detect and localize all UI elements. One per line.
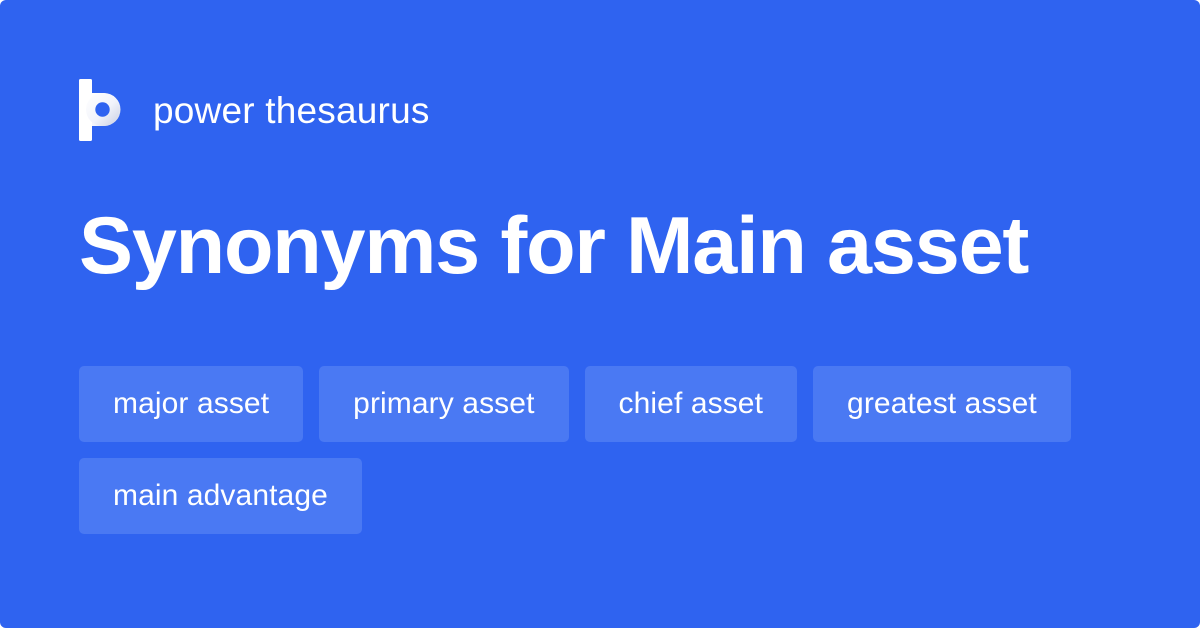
share-card: power thesaurus Synonyms for Main asset … (0, 0, 1200, 628)
synonym-chip[interactable]: major asset (79, 366, 303, 442)
synonym-chip[interactable]: greatest asset (813, 366, 1071, 442)
page-title: Synonyms for Main asset (79, 198, 1119, 294)
synonym-chip[interactable]: primary asset (319, 366, 568, 442)
synonym-chip-list: major asset primary asset chief asset gr… (79, 366, 1129, 534)
synonym-chip[interactable]: main advantage (79, 458, 362, 534)
brand-name: power thesaurus (153, 92, 430, 129)
brand-header[interactable]: power thesaurus (79, 79, 430, 141)
power-thesaurus-logo-icon (79, 79, 125, 141)
synonym-chip[interactable]: chief asset (585, 366, 798, 442)
